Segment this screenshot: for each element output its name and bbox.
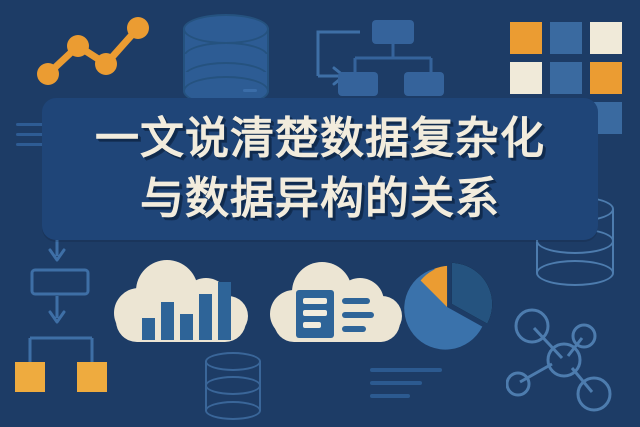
grid-cell	[550, 22, 582, 54]
database-outline-icon	[205, 352, 261, 426]
pie-chart-icon	[400, 258, 498, 356]
database-stack-icon	[183, 14, 269, 104]
title-panel: 一文说清楚数据复杂化 与数据异构的关系	[42, 98, 598, 240]
network-graph-icon	[506, 306, 634, 424]
grid-cell	[510, 62, 542, 94]
grid-cell	[590, 22, 622, 54]
cloud-document-icon	[268, 256, 408, 348]
title-line-2: 与数据异构的关系	[140, 170, 500, 228]
hierarchy-tree-icon	[300, 14, 445, 106]
poster-canvas: 一文说清楚数据复杂化 与数据异构的关系	[0, 0, 640, 427]
grid-cell	[550, 62, 582, 94]
grid-cell	[510, 22, 542, 54]
title-line-1: 一文说清楚数据复杂化	[95, 110, 545, 168]
text-lines-icon	[370, 368, 446, 402]
grid-cell	[590, 62, 622, 94]
title-text-block: 一文说清楚数据复杂化 与数据异构的关系	[42, 98, 598, 240]
line-chart-icon	[34, 12, 154, 90]
cloud-bar-chart-icon	[108, 252, 254, 348]
